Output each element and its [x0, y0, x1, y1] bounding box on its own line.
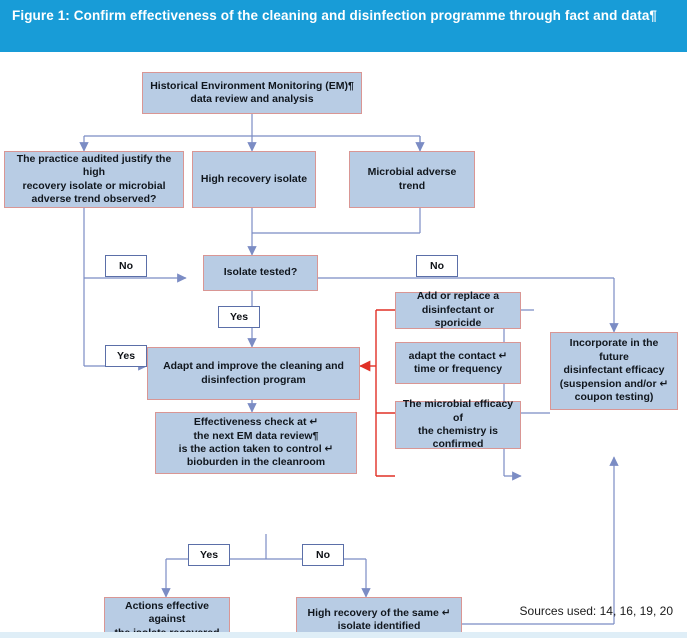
- node-isolate-tested[interactable]: Isolate tested?: [203, 255, 318, 291]
- node-effectiveness-check-line3: is the action taken to control ↵: [179, 443, 334, 456]
- node-practice-audited-line1: The practice audited justify the high: [9, 153, 179, 180]
- edge-label-yes-effectiveness: Yes: [188, 544, 230, 566]
- node-historical-em-line2: data review and analysis: [150, 93, 354, 106]
- node-actions-effective-line1: Actions effective against: [109, 600, 225, 627]
- node-effectiveness-check[interactable]: Effectiveness check at ↵ the next EM dat…: [155, 412, 357, 474]
- bottom-rule: [0, 632, 687, 638]
- node-adapt-improve-line2: disinfection program: [163, 374, 344, 387]
- node-adapt-contact-time-line1: adapt the contact ↵: [409, 350, 508, 363]
- node-add-or-replace-line2: disinfectant or sporicide: [400, 304, 516, 331]
- node-effectiveness-check-line1: Effectiveness check at ↵: [179, 416, 334, 429]
- node-add-or-replace-line1: Add or replace a: [400, 290, 516, 303]
- node-adapt-contact-time-line2: time or frequency: [409, 363, 508, 376]
- flowchart-canvas: Historical Environment Monitoring (EM)¶ …: [0, 52, 687, 638]
- node-microbial-efficacy-line3: confirmed: [400, 438, 516, 451]
- node-practice-audited-line3: adverse trend observed?: [9, 193, 179, 206]
- node-microbial-adverse-trend-line1: Microbial adverse trend: [354, 166, 470, 193]
- figure-title: Figure 1: Confirm effectiveness of the c…: [12, 6, 677, 26]
- node-effectiveness-check-line2: the next EM data review¶: [179, 430, 334, 443]
- edge-label-no-right: No: [416, 255, 458, 277]
- node-practice-audited-line2: recovery isolate or microbial: [9, 180, 179, 193]
- node-add-or-replace[interactable]: Add or replace a disinfectant or sporici…: [395, 292, 521, 329]
- edge-label-no-left: No: [105, 255, 147, 277]
- node-incorporate-future-line3: (suspension and/or ↵: [555, 378, 673, 391]
- node-high-recovery-isolate[interactable]: High recovery isolate: [192, 151, 316, 208]
- figure-page: Figure 1: Confirm effectiveness of the c…: [0, 0, 687, 638]
- node-microbial-adverse-trend[interactable]: Microbial adverse trend: [349, 151, 475, 208]
- node-microbial-efficacy-line1: The microbial efficacy of: [400, 398, 516, 425]
- node-adapt-improve-line1: Adapt and improve the cleaning and: [163, 360, 344, 373]
- node-isolate-tested-line1: Isolate tested?: [224, 266, 298, 279]
- node-microbial-efficacy-line2: the chemistry is: [400, 425, 516, 438]
- node-microbial-efficacy-confirmed[interactable]: The microbial efficacy of the chemistry …: [395, 401, 521, 449]
- node-effectiveness-check-line4: bioburden in the cleanroom: [179, 456, 334, 469]
- edge-label-yes-practice-audited: Yes: [105, 345, 147, 367]
- node-incorporate-future-line1: Incorporate in the future: [555, 337, 673, 364]
- sources-used-text: Sources used: 14, 16, 19, 20: [520, 604, 673, 618]
- node-practice-audited[interactable]: The practice audited justify the high re…: [4, 151, 184, 208]
- node-high-recovery-same-line1: High recovery of the same ↵: [307, 607, 450, 620]
- node-high-recovery-isolate-line1: High recovery isolate: [201, 173, 307, 186]
- node-historical-em-line1: Historical Environment Monitoring (EM)¶: [150, 80, 354, 93]
- node-historical-em[interactable]: Historical Environment Monitoring (EM)¶ …: [142, 72, 362, 114]
- node-adapt-improve[interactable]: Adapt and improve the cleaning and disin…: [147, 347, 360, 400]
- edge-label-no-effectiveness: No: [302, 544, 344, 566]
- node-incorporate-future-line2: disinfectant efficacy: [555, 364, 673, 377]
- node-incorporate-future[interactable]: Incorporate in the future disinfectant e…: [550, 332, 678, 410]
- figure-header-banner: Figure 1: Confirm effectiveness of the c…: [0, 0, 687, 52]
- node-adapt-contact-time[interactable]: adapt the contact ↵ time or frequency: [395, 342, 521, 384]
- edge-label-yes-isolate-tested: Yes: [218, 306, 260, 328]
- node-incorporate-future-line4: coupon testing): [555, 391, 673, 404]
